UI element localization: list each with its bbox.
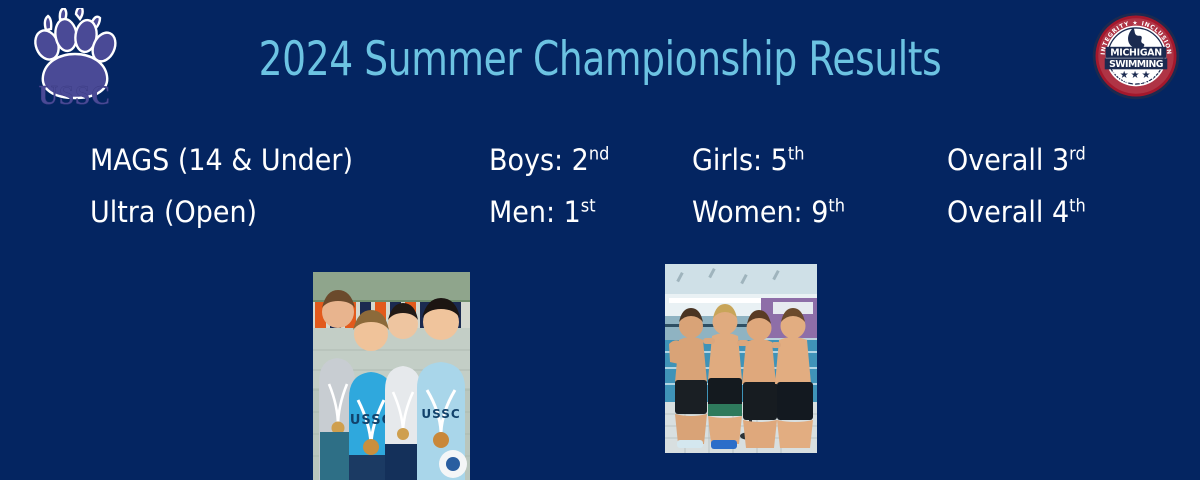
- meet-name-ultra: Ultra (Open): [90, 186, 257, 238]
- michigan-swimming-badge: INTEGRITY ★ INCLUSION EDUCATION ★ EXCELL…: [1090, 10, 1182, 102]
- result-overall-mags-suffix: rd: [1069, 144, 1086, 164]
- results-row-mags: MAGS (14 & Under) Boys: 2nd Girls: 5th O…: [0, 134, 1200, 186]
- result-men-place: 1: [564, 195, 581, 229]
- svg-text:MICHIGAN: MICHIGAN: [1110, 47, 1162, 58]
- result-men-label: Men:: [489, 195, 564, 229]
- meet-name-mags: MAGS (14 & Under): [90, 134, 353, 186]
- results-row-ultra: Ultra (Open) Men: 1st Women: 9th Overall…: [0, 186, 1200, 238]
- photo-mags-relay-team: USSC USSC: [313, 272, 470, 480]
- photo-ultra-relay-team-image: [665, 264, 817, 453]
- photo-mags-relay-team-image: USSC USSC: [313, 272, 470, 480]
- slide-title: 2024 Summer Championship Results: [120, 32, 1080, 87]
- presentation-slide: USSC INTEGRITY ★ INCLUSION EDUCATION ★ E…: [0, 0, 1200, 480]
- svg-text:★★★: ★★★: [1120, 70, 1153, 81]
- ussc-club-logo: USSC: [20, 8, 130, 108]
- result-overall-ultra-suffix: th: [1069, 196, 1086, 216]
- result-girls: Girls: 5th: [692, 134, 804, 186]
- result-overall-ultra: Overall 4th: [947, 186, 1086, 238]
- result-men-suffix: st: [581, 196, 596, 216]
- result-girls-place: 5: [771, 143, 788, 177]
- result-girls-suffix: th: [788, 144, 805, 164]
- result-women-place: 9: [811, 195, 828, 229]
- photo-ultra-relay-team: [665, 264, 817, 453]
- result-boys-label: Boys:: [489, 143, 572, 177]
- result-women-label: Women:: [692, 195, 811, 229]
- result-overall-mags: Overall 3rd: [947, 134, 1086, 186]
- result-overall-mags-place: 3: [1052, 143, 1069, 177]
- ussc-wordmark: USSC: [20, 82, 130, 109]
- svg-text:USSC: USSC: [421, 407, 460, 421]
- result-women-suffix: th: [828, 196, 845, 216]
- result-overall-ultra-place: 4: [1052, 195, 1069, 229]
- result-girls-label: Girls:: [692, 143, 771, 177]
- result-women: Women: 9th: [692, 186, 845, 238]
- result-men: Men: 1st: [489, 186, 596, 238]
- results-table: MAGS (14 & Under) Boys: 2nd Girls: 5th O…: [0, 134, 1200, 238]
- svg-text:SWIMMING: SWIMMING: [1109, 59, 1163, 70]
- result-boys-place: 2: [572, 143, 589, 177]
- result-overall-mags-label: Overall: [947, 143, 1052, 177]
- result-boys: Boys: 2nd: [489, 134, 609, 186]
- result-overall-ultra-label: Overall: [947, 195, 1052, 229]
- result-boys-suffix: nd: [589, 144, 610, 164]
- michigan-swimming-badge-icon: INTEGRITY ★ INCLUSION EDUCATION ★ EXCELL…: [1090, 10, 1182, 102]
